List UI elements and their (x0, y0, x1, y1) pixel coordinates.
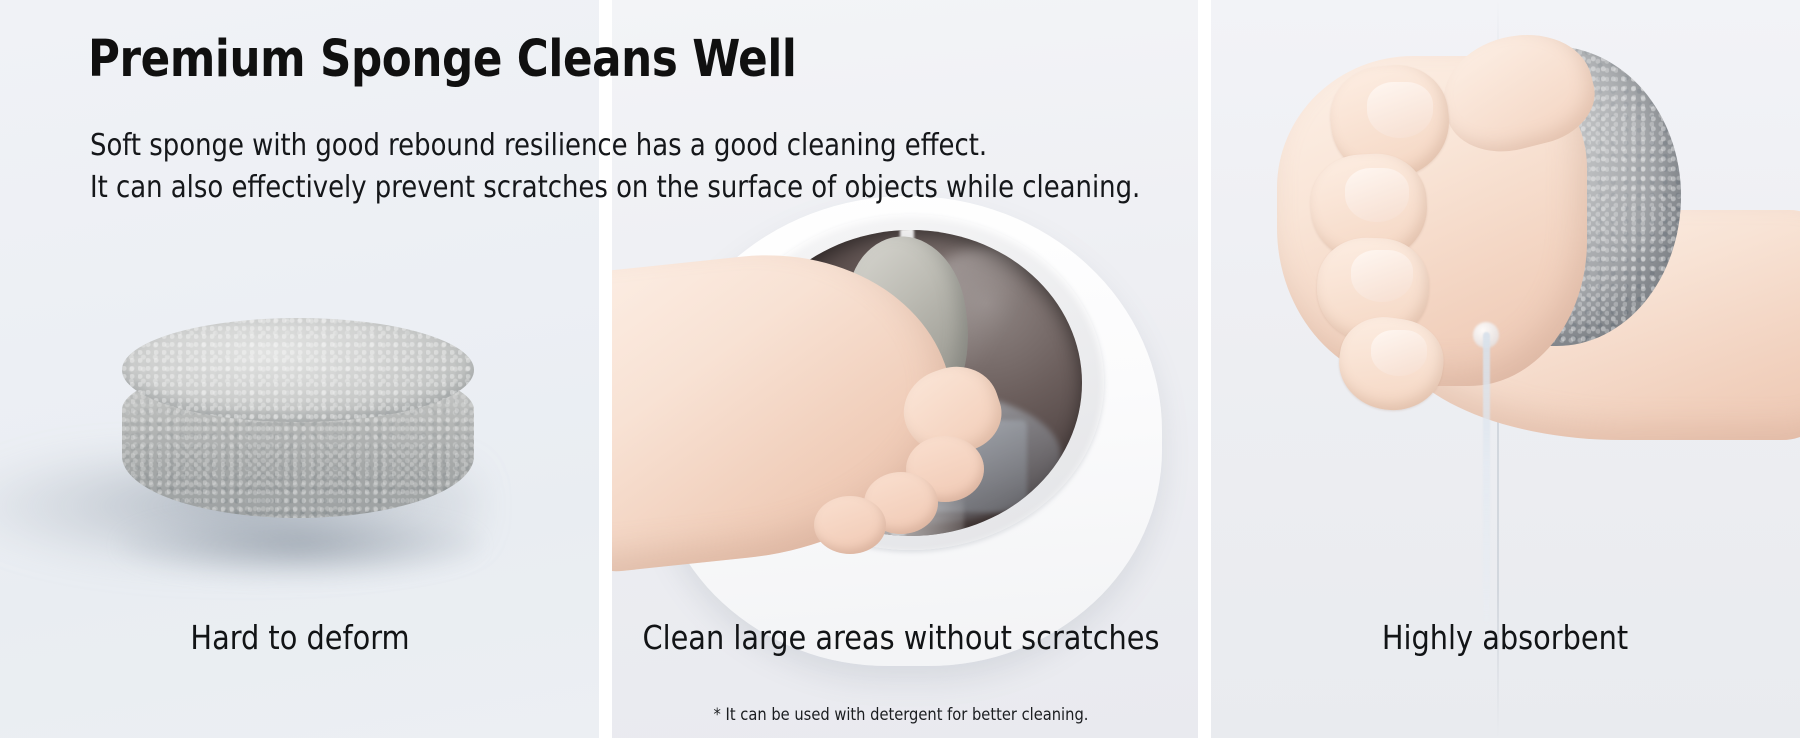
sponge-disc-top (122, 318, 474, 422)
washing-hand-knuckle-3 (814, 496, 886, 554)
panel-divider-1 (599, 0, 612, 738)
fingernail-3 (1351, 250, 1413, 302)
caption-highly-absorbent: Highly absorbent (1382, 618, 1628, 658)
fingernail-4 (1371, 330, 1427, 376)
bucket-image (654, 196, 1162, 666)
caption-hard-to-deform: Hard to deform (190, 618, 409, 658)
product-feature-banner: Premium Sponge Cleans Well Soft sponge w… (0, 0, 1800, 738)
fingernail-2 (1345, 168, 1409, 222)
water-drip-stream (1483, 332, 1490, 622)
caption-clean-large-areas: Clean large areas without scratches (642, 618, 1159, 658)
panel-divider-2 (1198, 0, 1211, 738)
detergent-footnote: * It can be used with detergent for bett… (714, 704, 1089, 726)
sponge-disc-image (122, 318, 474, 560)
fingernail-1 (1367, 82, 1433, 138)
